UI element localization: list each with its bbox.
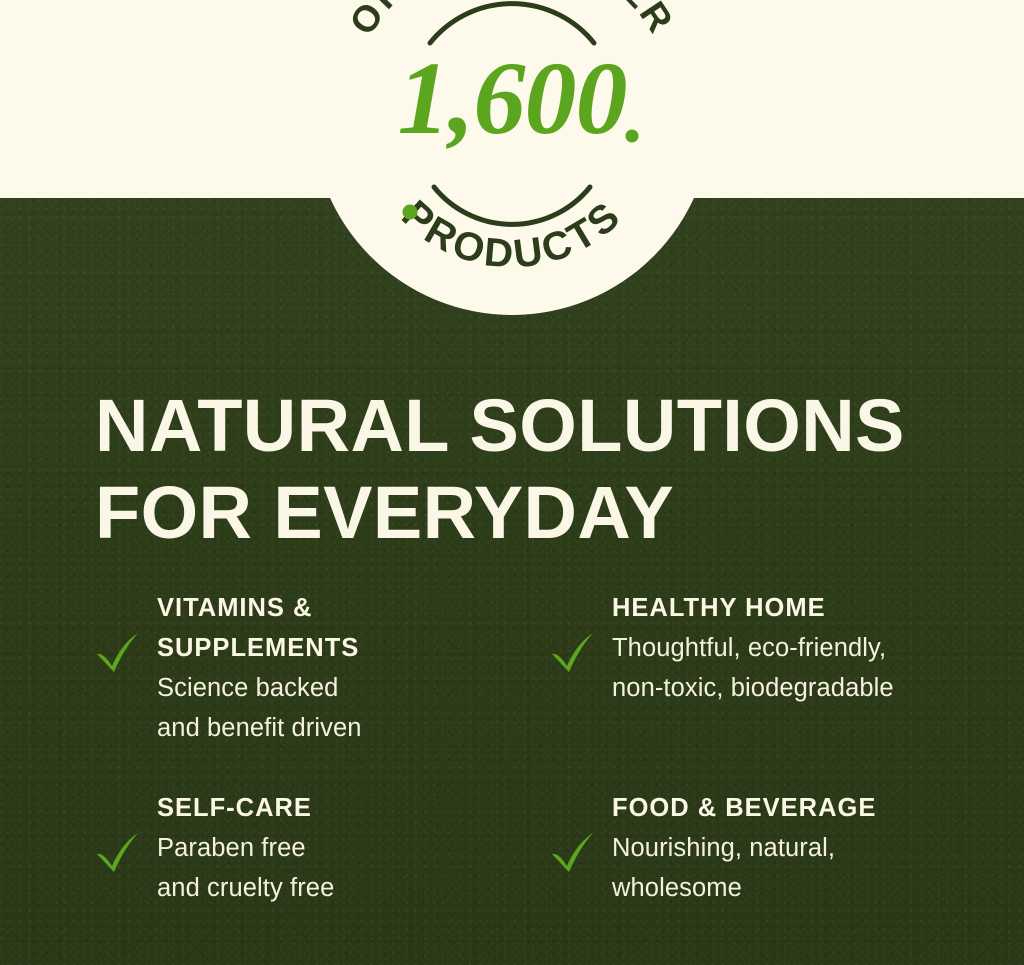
feature-description: Thoughtful, eco-friendly, non-toxic, bio… [612, 628, 894, 708]
badge-dot-left-icon [403, 205, 418, 220]
badge-arc-top-text: OFFERING OVER [342, 0, 683, 42]
feature-title: FOOD & BEVERAGE [612, 788, 876, 828]
badge-arc-top-textpath: OFFERING OVER [342, 0, 683, 42]
badge-dot-right-icon [626, 130, 639, 143]
feature-item-healthy-home: HEALTHY HOME Thoughtful, eco-friendly, n… [550, 588, 995, 788]
check-icon [95, 830, 141, 874]
promo-banner: OFFERING OVER PRODUCTS 1,600 NATURAL SOL… [0, 0, 1024, 965]
page-title-line-2: FOR EVERYDAY [95, 469, 975, 556]
feature-title: SELF-CARE [157, 788, 334, 828]
check-icon [95, 630, 141, 674]
products-count-badge: OFFERING OVER PRODUCTS 1,600 [312, 0, 712, 315]
badge-arc-bottom-textpath: PRODUCTS [393, 192, 630, 277]
badge-arc-top-decor [430, 4, 594, 43]
badge-arc-bottom-text: PRODUCTS [393, 192, 630, 277]
feature-check-wrap [95, 588, 157, 788]
feature-text: HEALTHY HOME Thoughtful, eco-friendly, n… [612, 588, 894, 788]
feature-title: HEALTHY HOME [612, 588, 894, 628]
feature-text: VITAMINS & SUPPLEMENTS Science backed an… [157, 588, 362, 788]
page-title: NATURAL SOLUTIONS FOR EVERYDAY [95, 382, 975, 556]
feature-check-wrap [550, 588, 612, 788]
feature-item-self-care: SELF-CARE Paraben free and cruelty free [95, 788, 550, 948]
feature-item-vitamins-supplements: VITAMINS & SUPPLEMENTS Science backed an… [95, 588, 550, 788]
page-title-line-1: NATURAL SOLUTIONS [95, 382, 975, 469]
badge-product-count: 1,600 [398, 41, 627, 156]
feature-description: Nourishing, natural, wholesome [612, 828, 876, 908]
check-icon [550, 630, 596, 674]
check-icon [550, 830, 596, 874]
feature-text: FOOD & BEVERAGE Nourishing, natural, who… [612, 788, 876, 908]
feature-title: VITAMINS & SUPPLEMENTS [157, 588, 362, 668]
feature-item-food-beverage: FOOD & BEVERAGE Nourishing, natural, who… [550, 788, 995, 948]
feature-description: Paraben free and cruelty free [157, 828, 334, 908]
feature-list: VITAMINS & SUPPLEMENTS Science backed an… [95, 588, 995, 948]
feature-text: SELF-CARE Paraben free and cruelty free [157, 788, 334, 908]
feature-description: Science backed and benefit driven [157, 668, 362, 748]
